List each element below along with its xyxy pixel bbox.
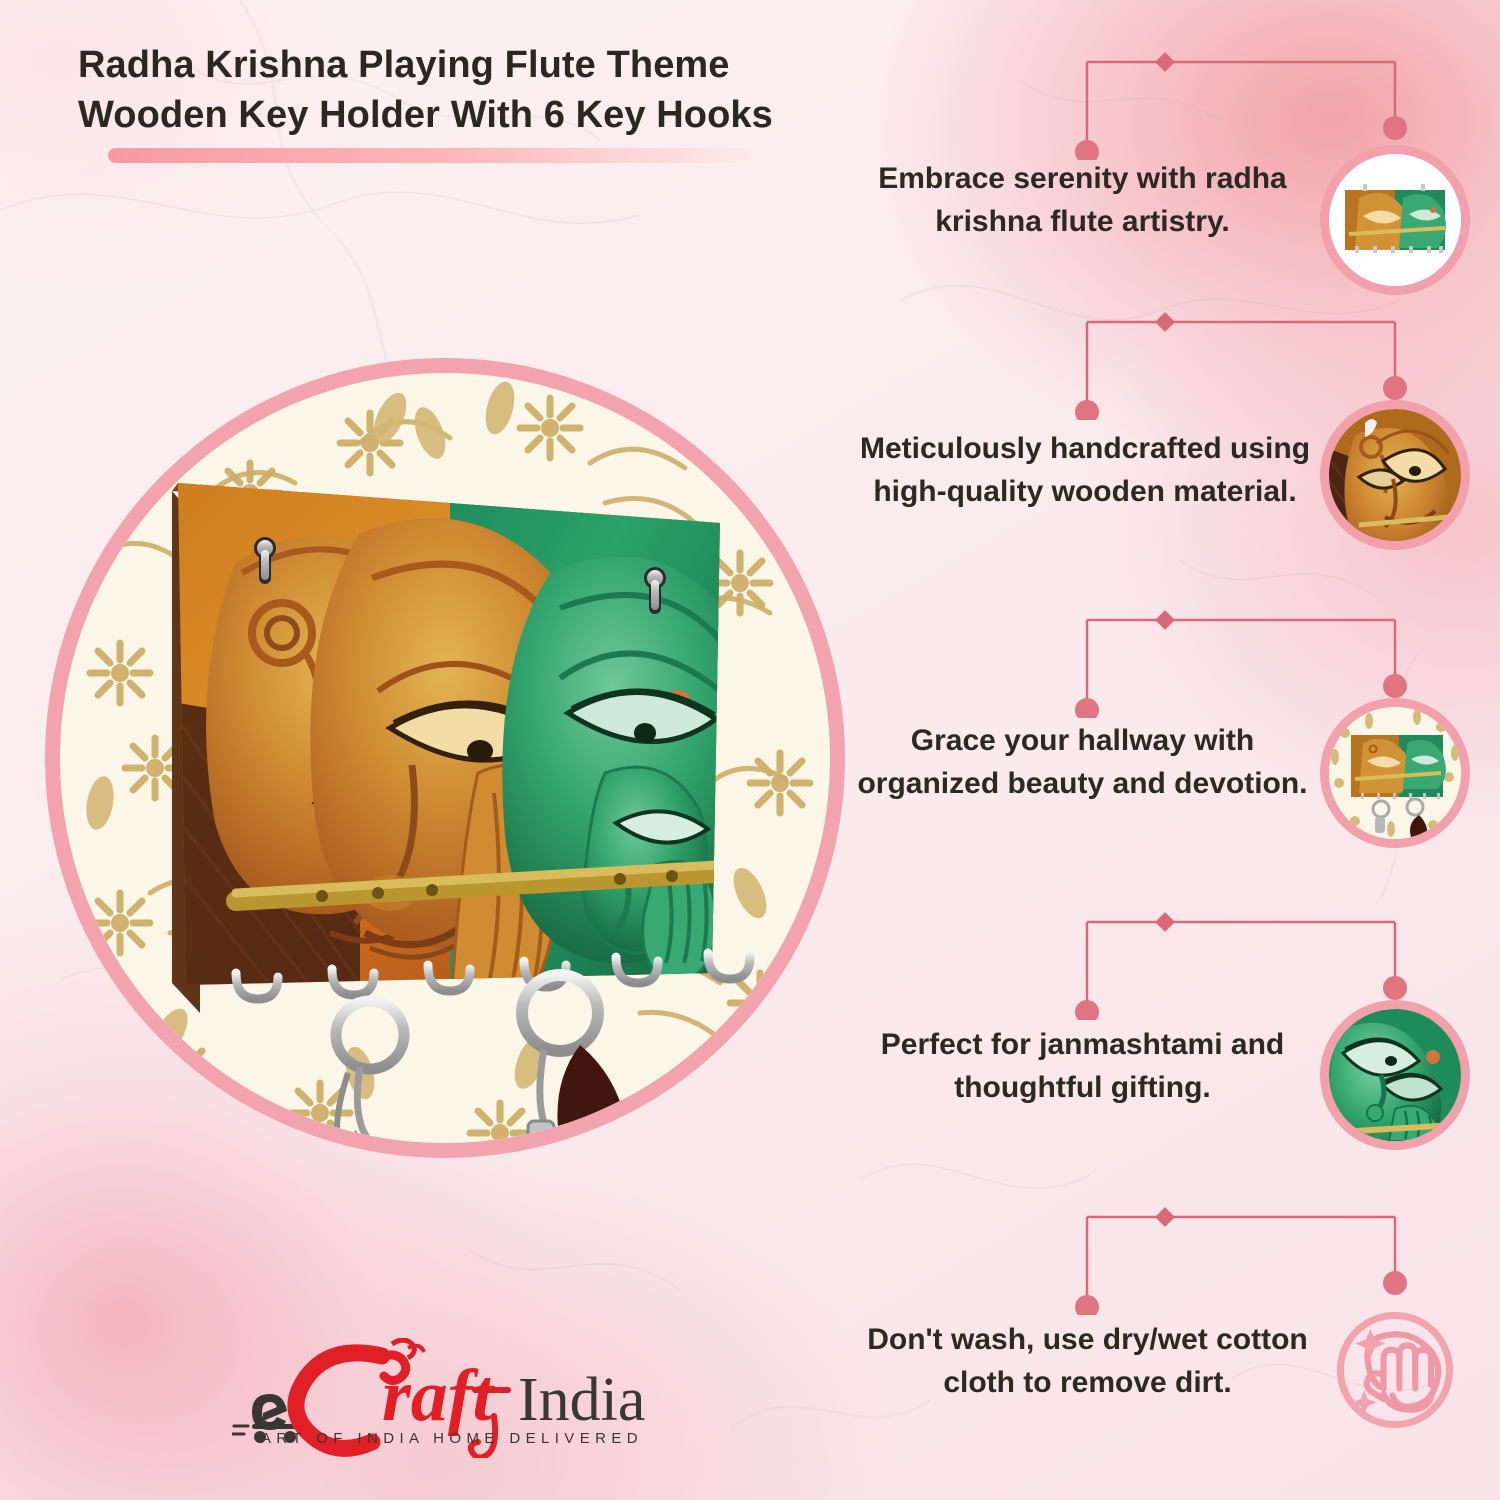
diamond-marker [1155, 610, 1175, 630]
connector-dot-right [1383, 976, 1407, 1000]
thumbnail-illustration [1329, 154, 1461, 286]
title-line-2: Wooden Key Holder With 6 Key Hooks [78, 90, 908, 140]
thumbnail-illustration [1329, 1009, 1461, 1141]
radha-face-closeup-thumbnail [1320, 400, 1470, 550]
connector-dot-left [1075, 698, 1099, 718]
diamond-marker [1155, 1207, 1175, 1227]
krishna-face-closeup-thumbnail [1320, 1000, 1470, 1150]
key-holder-front-thumbnail [1320, 145, 1470, 295]
connector-dot-right [1383, 674, 1407, 698]
infographic-canvas: Radha Krishna Playing Flute Theme Wooden… [0, 0, 1500, 1500]
connector-dot-right [1383, 376, 1407, 400]
connector-dot-right [1383, 116, 1407, 140]
diamond-marker [1155, 52, 1175, 72]
connector-dot-left [1075, 140, 1099, 160]
feature-text: Meticulously handcrafted using high-qual… [835, 428, 1335, 513]
connector-dot-left [1075, 1000, 1099, 1020]
feature-text: Grace your hallway with organized beauty… [855, 720, 1310, 805]
thumbnail-illustration [1329, 707, 1461, 839]
hero-illustration [60, 373, 830, 1143]
thumbnail-illustration [1329, 409, 1461, 541]
feature-text: Embrace serenity with radha krishna flut… [855, 158, 1310, 243]
connector-dot-right [1383, 1271, 1407, 1295]
feature-text: Don't wash, use dry/wet cotton cloth to … [845, 1319, 1330, 1404]
svg-text:raft: raft [382, 1355, 495, 1437]
diamond-marker [1155, 312, 1175, 332]
wipe-clean-icon [1320, 1295, 1470, 1445]
title-underline-bar [108, 148, 753, 163]
page-title: Radha Krishna Playing Flute Theme Wooden… [78, 40, 908, 140]
diamond-marker [1155, 912, 1175, 932]
wipe-clean-glyph [1329, 1304, 1461, 1436]
title-line-1: Radha Krishna Playing Flute Theme [78, 44, 730, 86]
india-wordmark: India [518, 1366, 645, 1434]
brand-tagline: ART OF INDIA HOME DELIVERED [232, 1430, 672, 1447]
connector-dot-left [1075, 1295, 1099, 1315]
connector-bracket [855, 40, 1500, 160]
hero-product-image [45, 358, 845, 1158]
feature-text: Perfect for janmashtami and thoughtful g… [855, 1024, 1310, 1109]
key-holder-mounted-thumbnail [1320, 698, 1470, 848]
connector-dot-left [1075, 400, 1099, 420]
